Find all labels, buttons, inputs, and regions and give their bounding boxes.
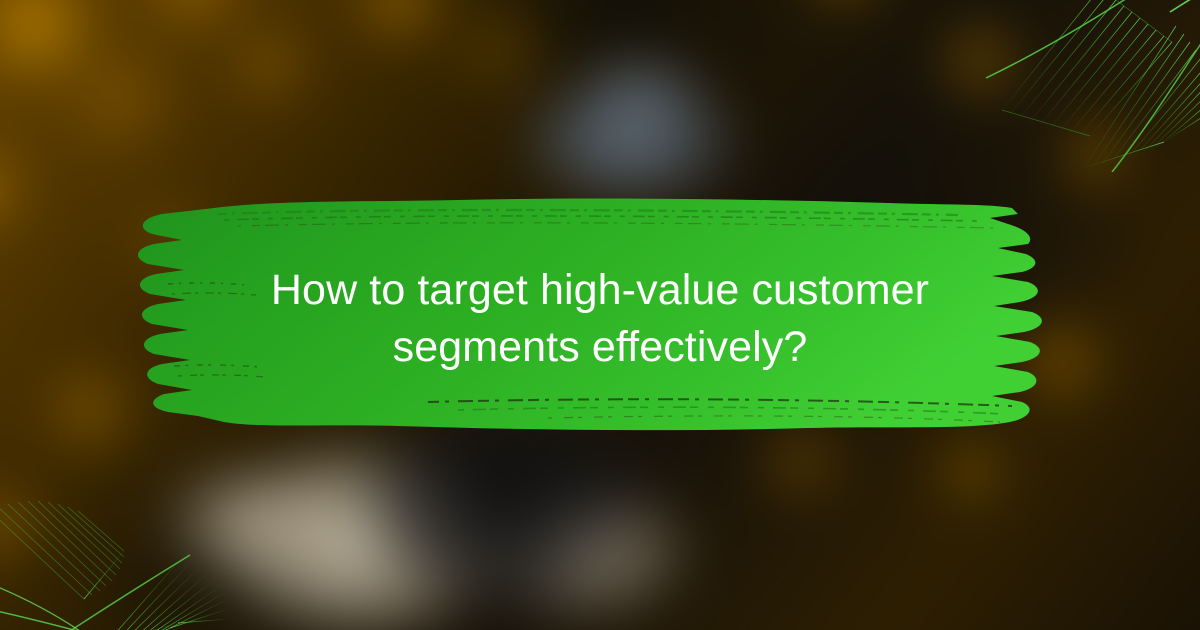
question-card: How to target high-value customer segmen…	[0, 0, 1200, 630]
page-title: How to target high-value customer segmen…	[200, 262, 1000, 376]
